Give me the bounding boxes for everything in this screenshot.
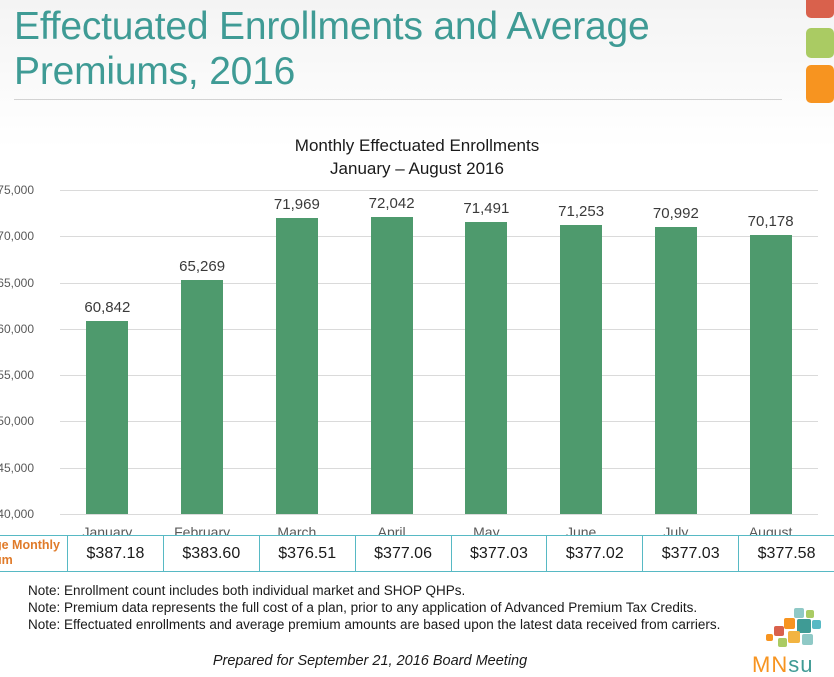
note-line: Note: Effectuated enrollments and averag… — [28, 617, 788, 633]
y-axis-tick-label: 75,000 — [0, 183, 34, 197]
chart-bar-value-label: 71,253 — [536, 203, 626, 220]
chart-bar[interactable] — [276, 218, 318, 514]
chart-gridline — [60, 236, 818, 237]
chart-gridline — [60, 421, 818, 422]
chart-bar-value-label: 71,491 — [441, 200, 531, 217]
bar-chart: Monthly Effectuated Enrollments January … — [0, 120, 834, 535]
chart-bar-value-label: 72,042 — [347, 195, 437, 212]
note-line: Note: Enrollment count includes both ind… — [28, 583, 788, 599]
chart-gridline — [60, 468, 818, 469]
chart-gridline — [60, 190, 818, 191]
premium-cell: $387.18 — [68, 536, 164, 571]
mnsure-logo: MNsu — [752, 608, 834, 674]
chart-bar[interactable] — [465, 222, 507, 514]
chart-bar-value-label: 71,969 — [252, 196, 342, 213]
note-line: Note: Premium data represents the full c… — [28, 600, 788, 616]
premium-cell: $377.03 — [452, 536, 548, 571]
corner-block-green — [806, 28, 834, 58]
logo-text-sure: su — [788, 652, 813, 677]
prepared-for-line: Prepared for September 21, 2016 Board Me… — [0, 653, 740, 669]
logo-square-icon — [784, 618, 795, 629]
average-premium-table: ge Monthly um $387.18$383.60$376.51$377.… — [0, 535, 834, 572]
chart-bar[interactable] — [560, 225, 602, 514]
logo-square-icon — [794, 608, 804, 618]
y-axis-tick-label: 50,000 — [0, 414, 34, 428]
chart-gridline — [60, 283, 818, 284]
logo-square-icon — [806, 610, 814, 618]
y-axis-tick-label: 60,000 — [0, 322, 34, 336]
logo-text-mn: MN — [752, 652, 788, 677]
logo-square-icon — [812, 620, 821, 629]
chart-bar[interactable] — [750, 235, 792, 514]
page-title: Effectuated Enrollments and Average Prem… — [14, 4, 774, 94]
y-axis-tick-label: 70,000 — [0, 229, 34, 243]
notes-block: Note: Enrollment count includes both ind… — [28, 583, 788, 634]
chart-plot-area: 75,00070,00065,00060,00055,00050,00045,0… — [60, 190, 818, 514]
mnsure-logo-wordmark: MNsu — [752, 652, 813, 677]
premium-cell: $376.51 — [260, 536, 356, 571]
premium-cell: $377.03 — [643, 536, 739, 571]
chart-bar[interactable] — [181, 280, 223, 514]
chart-bar-value-label: 70,992 — [631, 205, 721, 222]
premium-cell: $377.06 — [356, 536, 452, 571]
chart-bar-value-label: 60,842 — [62, 299, 152, 316]
chart-bar[interactable] — [655, 227, 697, 514]
y-axis-tick-label: 55,000 — [0, 368, 34, 382]
logo-square-icon — [766, 634, 773, 641]
premium-cell: $377.02 — [547, 536, 643, 571]
chart-gridline — [60, 514, 818, 515]
chart-gridline — [60, 375, 818, 376]
premium-cell: $377.58 — [739, 536, 834, 571]
title-block: Effectuated Enrollments and Average Prem… — [14, 4, 774, 94]
chart-bar[interactable] — [86, 321, 128, 514]
logo-square-icon — [774, 626, 784, 636]
chart-gridline — [60, 329, 818, 330]
logo-square-icon — [802, 634, 813, 645]
y-axis-tick-label: 40,000 — [0, 507, 34, 521]
chart-bar-value-label: 70,178 — [726, 213, 816, 230]
corner-block-red — [806, 0, 834, 18]
y-axis-tick-label: 45,000 — [0, 461, 34, 475]
title-divider — [14, 99, 782, 100]
premium-cell: $383.60 — [164, 536, 260, 571]
slide-canvas: Effectuated Enrollments and Average Prem… — [0, 0, 834, 677]
chart-bar-value-label: 65,269 — [157, 258, 247, 275]
chart-bar[interactable] — [371, 217, 413, 514]
corner-block-orange — [806, 65, 834, 103]
logo-square-icon — [778, 638, 787, 647]
chart-title: Monthly Effectuated Enrollments January … — [0, 134, 834, 180]
premium-row-label: ge Monthly um — [0, 536, 68, 571]
mnsure-logo-mark — [764, 608, 822, 650]
logo-square-icon — [788, 631, 800, 643]
y-axis-tick-label: 65,000 — [0, 276, 34, 290]
